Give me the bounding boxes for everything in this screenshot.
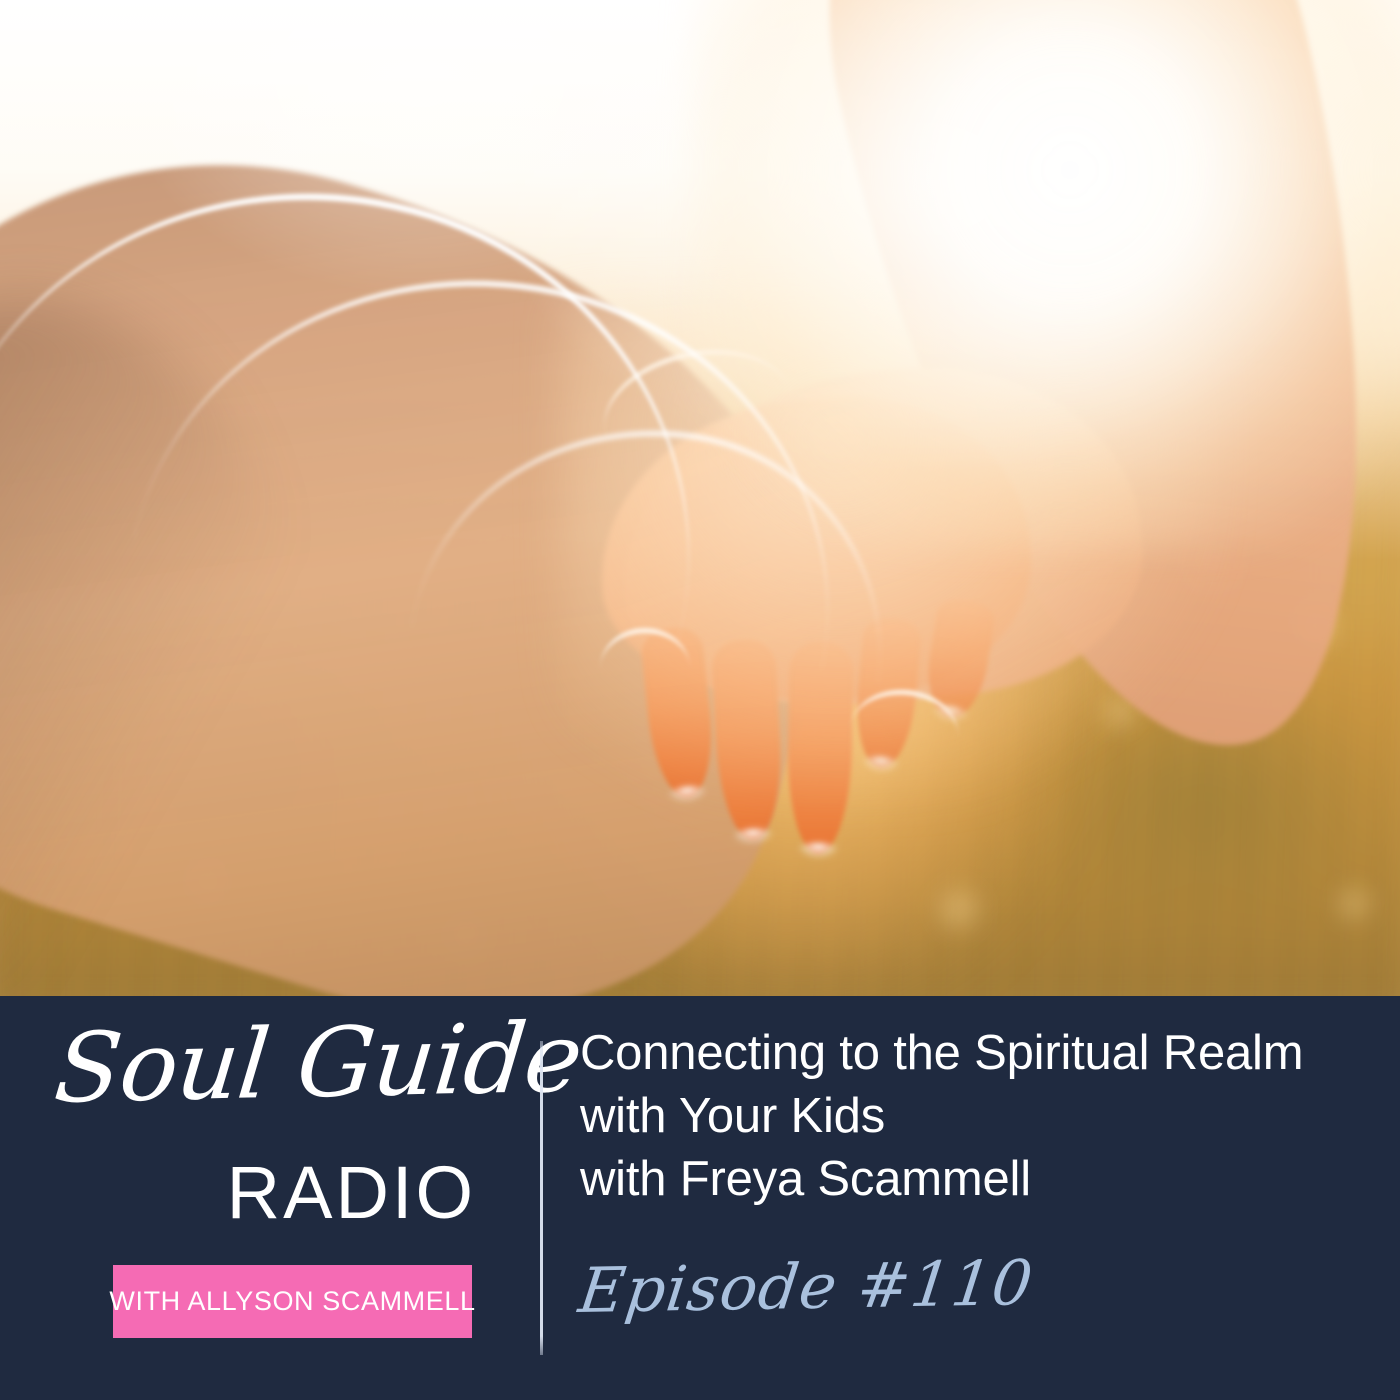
brand-script-title: Soul Guide [50,1009,501,1120]
brand-radio-label: RADIO [56,1156,476,1230]
host-badge: WITH ALLYSON SCAMMELL [113,1265,472,1338]
episode-title-line-2: with Your Kids [580,1085,1380,1148]
brand-block: Soul Guide RADIO [0,996,540,1400]
cover-photo [0,0,1400,996]
episode-title-line-3: with Freya Scammell [580,1148,1380,1211]
bokeh-highlight [1330,880,1378,928]
host-badge-label: WITH ALLYSON SCAMMELL [113,1265,472,1338]
episode-block: Connecting to the Spiritual Realm with Y… [580,1022,1380,1211]
podcast-cover-art: Soul Guide RADIO WITH ALLYSON SCAMMELL C… [0,0,1400,1400]
sun-flare [690,0,1400,550]
bokeh-highlight [930,880,988,938]
episode-title-line-1: Connecting to the Spiritual Realm [580,1022,1380,1085]
vertical-divider [540,1041,543,1355]
episode-number-label: Episode #110 [575,1246,1037,1327]
